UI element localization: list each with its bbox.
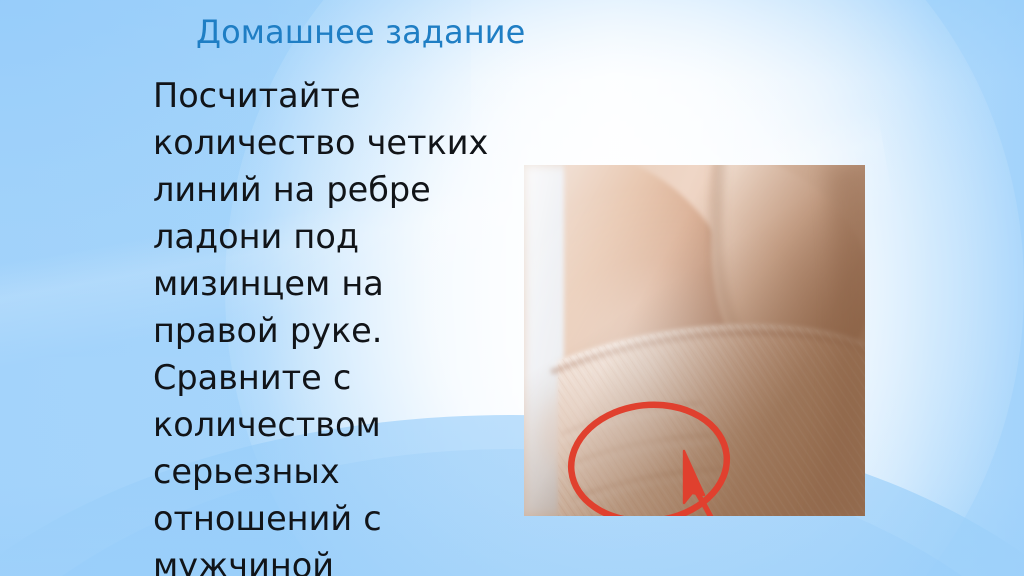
slide-title: Домашнее задание <box>196 14 896 51</box>
palm-photo-canvas <box>524 165 865 516</box>
palm-photo <box>524 165 865 516</box>
slide: Домашнее задание Посчитайте количество ч… <box>0 0 1024 576</box>
slide-body-text: Посчитайте количество четких линий на ре… <box>153 72 505 576</box>
